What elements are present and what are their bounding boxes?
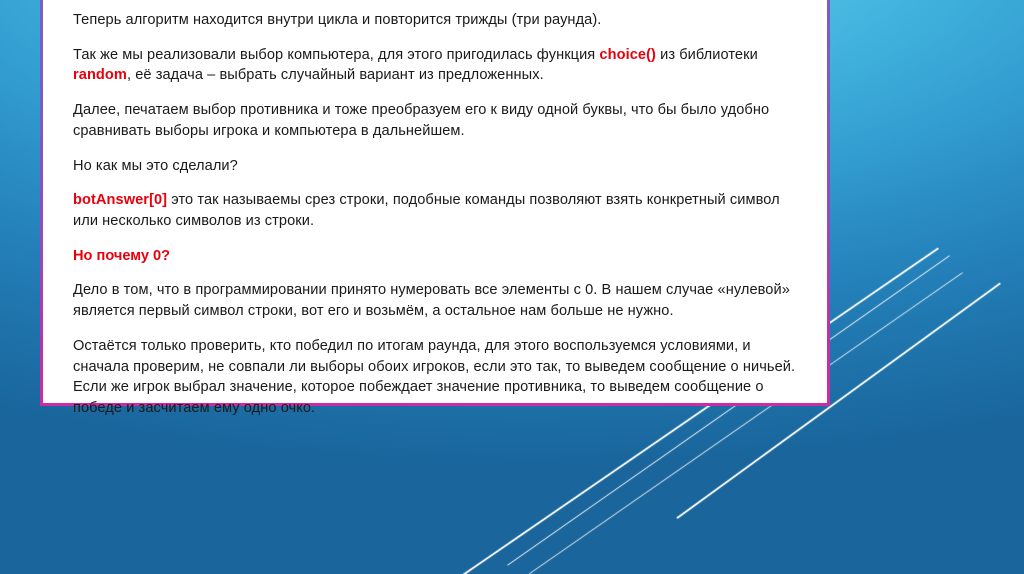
text-run: Теперь алгоритм находится внутри цикла и… bbox=[73, 12, 601, 28]
heading-text: Но почему 0? bbox=[73, 248, 170, 264]
keyword-random: random bbox=[73, 67, 127, 83]
slide-canvas: Теперь алгоритм находится внутри цикла и… bbox=[0, 0, 1024, 574]
text-run: Так же мы реализовали выбор компьютера, … bbox=[73, 47, 599, 63]
paragraph-3: Далее, печатаем выбор противника и тоже … bbox=[73, 100, 805, 141]
heading-why-zero: Но почему 0? bbox=[73, 246, 805, 267]
paragraph-2: Так же мы реализовали выбор компьютера, … bbox=[73, 45, 805, 86]
text-run: Остаётся только проверить, кто победил п… bbox=[73, 338, 795, 416]
text-run: из библиотеки bbox=[656, 47, 758, 63]
paragraph-7: Дело в том, что в программировании приня… bbox=[73, 280, 805, 321]
keyword-choice: choice() bbox=[599, 47, 656, 63]
paragraph-5: botAnswer[0] это так называемы срез стро… bbox=[73, 190, 805, 231]
text-run: Но как мы это сделали? bbox=[73, 158, 238, 174]
text-run: Дело в том, что в программировании приня… bbox=[73, 282, 790, 319]
paragraph-1: Теперь алгоритм находится внутри цикла и… bbox=[73, 10, 805, 31]
text-run: это так называемы срез строки, подобные … bbox=[73, 192, 780, 229]
keyword-botanswer-index: botAnswer[0] bbox=[73, 192, 167, 208]
paragraph-8: Остаётся только проверить, кто победил п… bbox=[73, 336, 805, 419]
content-panel: Теперь алгоритм находится внутри цикла и… bbox=[40, 0, 830, 406]
paragraph-4: Но как мы это сделали? bbox=[73, 156, 805, 177]
content-panel-body: Теперь алгоритм находится внутри цикла и… bbox=[43, 0, 827, 403]
text-run: Далее, печатаем выбор противника и тоже … bbox=[73, 102, 769, 139]
text-run: , её задача – выбрать случайный вариант … bbox=[127, 67, 544, 83]
